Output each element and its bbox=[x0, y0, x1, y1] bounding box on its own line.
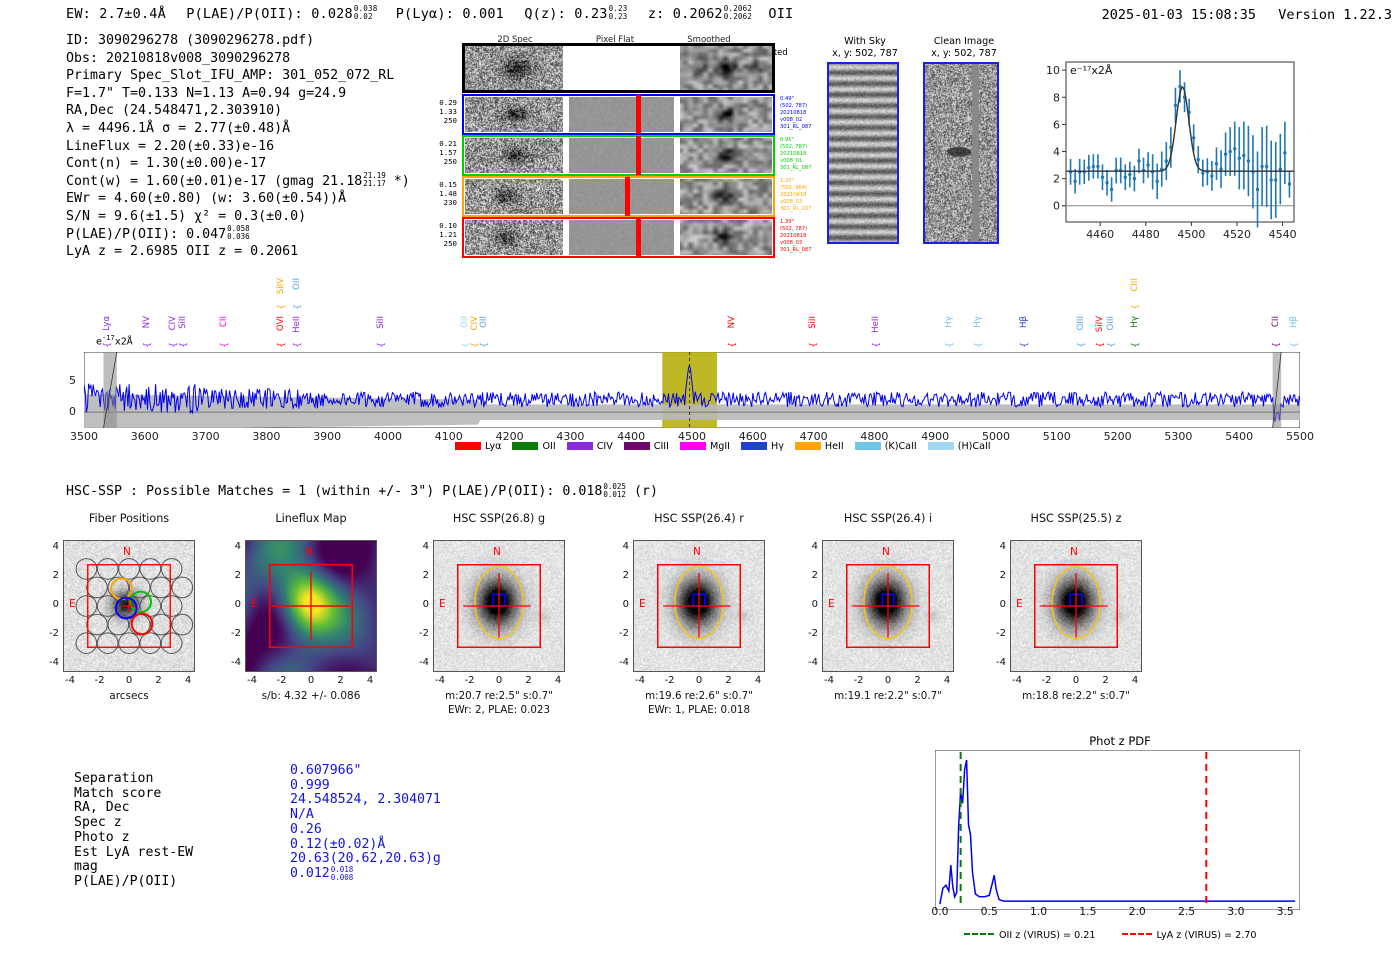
panel-ytick: -2 bbox=[609, 628, 629, 639]
weighted-sum-2dspec bbox=[465, 46, 563, 90]
emission-line-label: OIII bbox=[1107, 316, 1116, 330]
panel-ytick: 4 bbox=[39, 541, 59, 552]
panel-caption-ewr: EWr: 1, PLAE: 0.018 bbox=[601, 704, 797, 716]
panel-xtick: -2 bbox=[656, 675, 684, 686]
emission-line-label: Hβ bbox=[1290, 316, 1299, 328]
info-sn: S/N = 9.6(±1.5) χ² = 0.3(±0.0) bbox=[66, 208, 410, 226]
panel-ytick: 4 bbox=[798, 541, 818, 552]
spectrum-ytick: 5 bbox=[69, 374, 76, 387]
panel-title: HSC SSP(25.5) z bbox=[985, 512, 1167, 525]
wavelength-marker bbox=[636, 95, 641, 134]
compass-east: E bbox=[439, 598, 446, 610]
panel-ytick: 0 bbox=[798, 599, 818, 610]
legend-item: (H)CaII bbox=[928, 441, 991, 452]
photz-xtick: 1.0 bbox=[1019, 905, 1059, 918]
info-plae: P(LAE)/P(OII): 0.0470.0580.036 bbox=[66, 226, 410, 244]
legend-label: (K)CaII bbox=[885, 441, 917, 452]
panel-ytick: 0 bbox=[609, 599, 629, 610]
panel-xtick: 4 bbox=[356, 675, 384, 686]
spectrum-line-markers: Lyα{NV{CIV{SiII{CII{SiIV{OVI{OII{HeII{Si… bbox=[0, 270, 1400, 355]
spectrum-xtick: 3900 bbox=[305, 430, 349, 443]
legend-label: MgII bbox=[710, 441, 730, 452]
legend-label: CIV bbox=[597, 441, 613, 452]
spectrum-xtick: 3700 bbox=[184, 430, 228, 443]
header-qz-label: Q(z): bbox=[524, 6, 566, 22]
hsc-headline: HSC-SSP : Possible Matches = 1 (within +… bbox=[66, 484, 658, 500]
clean-image-cutout[interactable] bbox=[923, 62, 999, 244]
legend-swatch bbox=[512, 442, 538, 450]
info-cont-n: Cont(n) = 1.30(±0.00)e-17 bbox=[66, 155, 410, 173]
svg-text:4520: 4520 bbox=[1223, 228, 1251, 241]
row-2dspec bbox=[465, 220, 563, 255]
emission-line-label: OII bbox=[480, 316, 489, 328]
row-metadata: 1.39"(502, 787)20210818v008_03301_RL_087 bbox=[780, 219, 812, 254]
photz-xaxis: 0.00.51.01.52.02.53.03.5 bbox=[905, 905, 1335, 921]
weighted-sum-smoothed bbox=[680, 46, 772, 90]
emission-line-brace: { bbox=[872, 342, 882, 348]
panel-caption-photometry: m:18.8 re:2.2" s:0.7" bbox=[978, 690, 1174, 702]
panel-xtick: 2 bbox=[1092, 675, 1120, 686]
row-smoothed bbox=[680, 220, 772, 255]
row-smoothed bbox=[680, 138, 772, 173]
svg-text:e⁻¹⁷x2Å: e⁻¹⁷x2Å bbox=[1070, 64, 1113, 77]
panel-xtick: 4 bbox=[174, 675, 202, 686]
row-stats: 0.101.21250 bbox=[413, 221, 457, 249]
legend-swatch bbox=[680, 442, 706, 450]
panel-xtick: -2 bbox=[456, 675, 484, 686]
panel-xtick: 0 bbox=[115, 675, 143, 686]
header-z-label: z: bbox=[648, 6, 665, 22]
legend-item: OII bbox=[512, 441, 555, 452]
panel-ytick: -4 bbox=[798, 657, 818, 668]
legend-item: Lyα bbox=[455, 441, 501, 452]
source-info-block: ID: 3090296278 (3090296278.pdf) Obs: 202… bbox=[66, 32, 410, 261]
row-stats: 0.291.33250 bbox=[413, 98, 457, 126]
panel-xtick: 0 bbox=[485, 675, 513, 686]
line-profile-plot[interactable]: 024681044604480450045204540e⁻¹⁷x2Å bbox=[1030, 52, 1300, 252]
spectrum-legend: LyαOIICIVCIIIMgIIHγHeII(K)CaII(H)CaII bbox=[455, 441, 1002, 452]
legend-label: CIII bbox=[654, 441, 669, 452]
emission-line-brace: { bbox=[1077, 342, 1087, 348]
row-smoothed bbox=[680, 97, 772, 132]
spectrum-xtick: 5300 bbox=[1156, 430, 1200, 443]
compass-east: E bbox=[69, 598, 76, 610]
emission-line-label: CIV bbox=[169, 316, 178, 330]
wavelength-marker bbox=[636, 218, 641, 257]
panel-xtick: -4 bbox=[426, 675, 454, 686]
emission-line-label: HeII bbox=[293, 316, 302, 333]
panel-caption-ewr: EWr: 2, PLAE: 0.023 bbox=[401, 704, 597, 716]
wavelength-marker bbox=[636, 136, 641, 175]
compass-north: N bbox=[693, 546, 701, 558]
panel-title: HSC SSP(26.8) g bbox=[408, 512, 590, 525]
panel-image[interactable] bbox=[1010, 540, 1142, 672]
emission-line-brace: { bbox=[1290, 342, 1300, 348]
panel-xtick: 0 bbox=[1062, 675, 1090, 686]
compass-north: N bbox=[123, 546, 131, 558]
legend-swatch bbox=[624, 442, 650, 450]
emission-line-label: NV bbox=[728, 316, 737, 328]
header-ew: EW: 2.7±0.4Å bbox=[66, 6, 166, 22]
info-cont-w: Cont(w) = 1.60(±0.01)e-17 (gmag 21.1821.… bbox=[66, 173, 410, 191]
info-ewr: EWr = 4.60(±0.80) (w: 3.60(±0.54))Å bbox=[66, 190, 410, 208]
svg-text:4540: 4540 bbox=[1269, 228, 1297, 241]
panel-xtick: 4 bbox=[933, 675, 961, 686]
legend-item: HeII bbox=[795, 441, 844, 452]
match-row-value: 24.548524, 2.304071 bbox=[290, 793, 441, 808]
panel-ytick: 2 bbox=[39, 570, 59, 581]
panel-title: HSC SSP(26.4) i bbox=[797, 512, 979, 525]
emission-line-brace: { bbox=[293, 304, 303, 310]
panel-image[interactable] bbox=[245, 540, 377, 672]
svg-text:4500: 4500 bbox=[1177, 228, 1205, 241]
match-row-value: 0.999 bbox=[290, 779, 330, 794]
emission-line-brace: { bbox=[1131, 342, 1141, 348]
emission-line-label: NV bbox=[143, 316, 152, 328]
spectrum-xtick: 5400 bbox=[1217, 430, 1261, 443]
panel-caption-photometry: m:19.1 re:2.2" s:0.7" bbox=[790, 690, 986, 702]
full-spectrum-plot[interactable] bbox=[84, 352, 1300, 428]
timestamp: 2025-01-03 15:08:35 bbox=[1102, 7, 1256, 23]
match-row-value: 0.26 bbox=[290, 823, 322, 838]
spectrum-xtick: 5200 bbox=[1096, 430, 1140, 443]
panel-ytick: 4 bbox=[609, 541, 629, 552]
spectrum-xtick: 5100 bbox=[1035, 430, 1079, 443]
legend-swatch bbox=[567, 442, 593, 450]
panel-ytick: -2 bbox=[221, 628, 241, 639]
match-row-value: 20.63(20.62,20.63)g bbox=[290, 852, 441, 867]
photz-xtick: 1.5 bbox=[1068, 905, 1108, 918]
legend-label: (H)CaII bbox=[958, 441, 991, 452]
legend-swatch bbox=[855, 442, 881, 450]
header-plae-range: 0.0380.02 bbox=[354, 5, 378, 21]
emission-line-label: Hγ bbox=[945, 316, 954, 328]
panel-xtick: -4 bbox=[238, 675, 266, 686]
match-row-key: mag bbox=[74, 860, 98, 875]
panel-xtick: 2 bbox=[904, 675, 932, 686]
emission-line-brace: { bbox=[169, 342, 179, 348]
panel-xtick: 4 bbox=[544, 675, 572, 686]
emission-line-label: Hγ bbox=[1131, 316, 1140, 328]
header-z-type: OII bbox=[768, 6, 793, 22]
row-stats: 0.151.48230 bbox=[413, 180, 457, 208]
panel-xtick: -2 bbox=[86, 675, 114, 686]
emission-line-brace: { bbox=[377, 342, 387, 348]
emission-line-brace: { bbox=[461, 342, 471, 348]
photz-xtick: 3.0 bbox=[1216, 905, 1256, 918]
legend-item: MgII bbox=[680, 441, 730, 452]
header-plae-label: P(LAE)/P(OII): bbox=[186, 6, 303, 22]
photz-xtick: 3.5 bbox=[1265, 905, 1305, 918]
header-qz-range: 0.230.23 bbox=[609, 5, 628, 21]
photz-xtick: 2.0 bbox=[1117, 905, 1157, 918]
match-row-key: Photo z bbox=[74, 831, 130, 846]
emission-line-label: Hγ bbox=[974, 316, 983, 328]
row-2dspec bbox=[465, 179, 563, 214]
spectrum-xtick: 5500 bbox=[1278, 430, 1322, 443]
emission-line-brace: { bbox=[179, 342, 189, 348]
emission-line-label: SiIV bbox=[1096, 316, 1105, 332]
svg-text:2: 2 bbox=[1053, 173, 1060, 186]
spectrum-xtick: 3800 bbox=[244, 430, 288, 443]
panel-xtick: -4 bbox=[1003, 675, 1031, 686]
legend-label: Hγ bbox=[771, 441, 784, 452]
info-wavelength: λ = 4496.1Å σ = 2.77(±0.48)Å bbox=[66, 120, 410, 138]
clean-image-title: Clean Imagex, y: 502, 787 bbox=[916, 36, 1012, 60]
match-row-key: Separation bbox=[74, 772, 153, 787]
photz-title: Phot z PDF bbox=[935, 734, 1305, 748]
emission-line-brace: { bbox=[1272, 342, 1282, 348]
panel-image[interactable] bbox=[433, 540, 565, 672]
header-summary: EW: 2.7±0.4Å P(LAE)/P(OII): 0.0280.0380.… bbox=[66, 6, 793, 22]
info-primary-spec: Primary Spec_Slot_IFU_AMP: 301_052_072_R… bbox=[66, 67, 410, 85]
row-pixelflat bbox=[569, 179, 674, 214]
panel-xtick: -4 bbox=[56, 675, 84, 686]
emission-line-label: OVI bbox=[277, 316, 286, 331]
legend-item: Hγ bbox=[741, 441, 784, 452]
info-radec: RA,Dec (24.548471,2.303910) bbox=[66, 102, 410, 120]
panel-xtick: -2 bbox=[268, 675, 296, 686]
row-metadata: 0.95"(502, 787)20210818v008_01301_RL_087 bbox=[780, 137, 812, 172]
match-row-value: N/A bbox=[290, 808, 314, 823]
info-id: ID: 3090296278 (3090296278.pdf) bbox=[66, 32, 410, 50]
row-metadata: 0.49"(502, 787)20210818v008_02301_RL_087 bbox=[780, 96, 812, 131]
emission-line-brace: { bbox=[1107, 342, 1117, 348]
header-qz-value: 0.23 bbox=[574, 6, 607, 22]
svg-text:8: 8 bbox=[1053, 91, 1060, 104]
panel-ytick: -4 bbox=[409, 657, 429, 668]
hsc-headline-range: 0.0250.012 bbox=[603, 483, 626, 499]
emission-line-brace: { bbox=[1096, 342, 1106, 348]
compass-north: N bbox=[1070, 546, 1078, 558]
panel-title: HSC SSP(26.4) r bbox=[608, 512, 790, 525]
emission-line-label: CII bbox=[220, 316, 229, 327]
panel-ytick: 0 bbox=[409, 599, 429, 610]
panel-caption-photometry: m:20.7 re:2.5" s:0.7" bbox=[401, 690, 597, 702]
with-sky-cutout[interactable] bbox=[827, 62, 899, 244]
match-row-key: P(LAE)/P(OII) bbox=[74, 875, 177, 890]
svg-text:10: 10 bbox=[1046, 64, 1060, 77]
spectrum-xtick: 3500 bbox=[62, 430, 106, 443]
legend-label: HeII bbox=[825, 441, 844, 452]
photz-legend: OII z (VIRUS) = 0.21LyA z (VIRUS) = 2.70 bbox=[964, 930, 1283, 941]
panel-xlabel: s/b: 4.32 +/- 0.086 bbox=[215, 690, 407, 702]
info-obs: Obs: 20210818v008_3090296278 bbox=[66, 50, 410, 68]
svg-text:4480: 4480 bbox=[1132, 228, 1160, 241]
emission-line-label: Lyα bbox=[103, 316, 112, 331]
panel-ytick: 0 bbox=[221, 599, 241, 610]
panel-xtick: -4 bbox=[626, 675, 654, 686]
spectrum-yaxis: 05 bbox=[0, 352, 84, 428]
emission-line-brace: { bbox=[1131, 304, 1141, 310]
photz-legend-item: OII z (VIRUS) = 0.21 bbox=[964, 930, 1096, 941]
panel-ytick: -4 bbox=[39, 657, 59, 668]
photz-xtick: 0.5 bbox=[969, 905, 1009, 918]
row-smoothed bbox=[680, 179, 772, 214]
svg-text:4460: 4460 bbox=[1086, 228, 1114, 241]
compass-east: E bbox=[828, 598, 835, 610]
emission-line-brace: { bbox=[809, 342, 819, 348]
photz-xtick: 0.0 bbox=[920, 905, 960, 918]
header-plya: P(Lyα): 0.001 bbox=[396, 6, 504, 22]
match-row-key: Spec z bbox=[74, 816, 122, 831]
emission-line-brace: { bbox=[277, 342, 287, 348]
emission-line-label: CIII bbox=[1131, 278, 1140, 292]
row-2dspec bbox=[465, 97, 563, 132]
panel-xtick: 0 bbox=[685, 675, 713, 686]
compass-north: N bbox=[882, 546, 890, 558]
panel-xtick: 2 bbox=[327, 675, 355, 686]
photz-legend-dash bbox=[1122, 933, 1152, 935]
hsc-headline-text: HSC-SSP : Possible Matches = 1 (within +… bbox=[66, 484, 602, 499]
row-2dspec bbox=[465, 138, 563, 173]
info-lineflux: LineFlux = 2.20(±0.33)e-16 bbox=[66, 138, 410, 156]
spectrum-xtick: 4000 bbox=[366, 430, 410, 443]
panel-ytick: -2 bbox=[409, 628, 429, 639]
emission-line-brace: { bbox=[143, 342, 153, 348]
legend-swatch bbox=[741, 442, 767, 450]
emission-line-brace: { bbox=[293, 342, 303, 348]
svg-text:0: 0 bbox=[1053, 200, 1060, 213]
panel-title: Lineflux Map bbox=[220, 512, 402, 525]
panel-ytick: 2 bbox=[609, 570, 629, 581]
compass-north: N bbox=[305, 546, 313, 558]
panel-ytick: -4 bbox=[221, 657, 241, 668]
compass-east: E bbox=[1016, 598, 1023, 610]
panel-ytick: 2 bbox=[798, 570, 818, 581]
panel-xtick: -2 bbox=[1033, 675, 1061, 686]
panel-xtick: 0 bbox=[874, 675, 902, 686]
version-label: Version 1.22.3 bbox=[1278, 7, 1392, 23]
emission-line-label: OIII bbox=[1077, 316, 1086, 330]
row-pixelflat bbox=[569, 97, 674, 132]
panel-xlabel: arcsecs bbox=[33, 690, 225, 702]
emission-line-label: SiII bbox=[809, 316, 818, 329]
panel-caption-photometry: m:19.6 re:2.6" s:0.7" bbox=[601, 690, 797, 702]
compass-east: E bbox=[639, 598, 646, 610]
emission-line-brace: { bbox=[728, 342, 738, 348]
legend-item: CIV bbox=[567, 441, 613, 452]
panel-ytick: 4 bbox=[409, 541, 429, 552]
panel-image[interactable] bbox=[822, 540, 954, 672]
emission-line-brace: { bbox=[1020, 342, 1030, 348]
info-seeing: F=1.7" T=0.133 N=1.13 A=0.94 g=24.9 bbox=[66, 85, 410, 103]
match-row-key: Match score bbox=[74, 787, 161, 802]
spectrum-ytick: 0 bbox=[69, 405, 76, 418]
panel-xtick: 2 bbox=[515, 675, 543, 686]
svg-text:6: 6 bbox=[1053, 118, 1060, 131]
emission-line-label: SiII bbox=[179, 316, 188, 329]
panel-xtick: 4 bbox=[744, 675, 772, 686]
photz-legend-label: OII z (VIRUS) = 0.21 bbox=[999, 930, 1096, 941]
legend-item: (K)CaII bbox=[855, 441, 917, 452]
row-pixelflat bbox=[569, 220, 674, 255]
legend-item: CIII bbox=[624, 441, 669, 452]
emission-line-label: SiIV bbox=[277, 278, 286, 294]
spectrum-units-label: e-17x2Å bbox=[96, 334, 133, 347]
panel-ytick: -2 bbox=[39, 628, 59, 639]
panel-ytick: -2 bbox=[798, 628, 818, 639]
emission-line-label: SiII bbox=[377, 316, 386, 329]
emission-line-brace: { bbox=[480, 342, 490, 348]
compass-east: E bbox=[251, 598, 258, 610]
panel-ytick: 2 bbox=[409, 570, 429, 581]
panel-image[interactable] bbox=[63, 540, 195, 672]
emission-line-label: OII bbox=[293, 278, 302, 290]
panel-ytick: 4 bbox=[221, 541, 241, 552]
legend-label: Lyα bbox=[485, 441, 501, 452]
match-row-value: 0.0120.0180.008 bbox=[290, 867, 353, 883]
panel-xtick: 4 bbox=[1121, 675, 1149, 686]
panel-xtick: 2 bbox=[715, 675, 743, 686]
panel-image[interactable] bbox=[633, 540, 765, 672]
panel-xtick: -4 bbox=[815, 675, 843, 686]
legend-swatch bbox=[928, 442, 954, 450]
panel-ytick: -4 bbox=[609, 657, 629, 668]
panel-xtick: -2 bbox=[845, 675, 873, 686]
panel-ytick: 2 bbox=[986, 570, 1006, 581]
emission-line-brace: { bbox=[974, 342, 984, 348]
emission-line-label: Hβ bbox=[1020, 316, 1029, 328]
spectrum-xtick: 3600 bbox=[123, 430, 167, 443]
legend-swatch bbox=[795, 442, 821, 450]
panel-xtick: 0 bbox=[297, 675, 325, 686]
photz-legend-label: LyA z (VIRUS) = 2.70 bbox=[1157, 930, 1257, 941]
match-table: Separation0.607966"Match score0.999RA, D… bbox=[74, 772, 474, 902]
compass-north: N bbox=[493, 546, 501, 558]
panel-ytick: -4 bbox=[986, 657, 1006, 668]
emission-line-brace: { bbox=[945, 342, 955, 348]
with-sky-title: With Skyx, y: 502, 787 bbox=[820, 36, 910, 60]
info-redshifts: LyA z = 2.6985 OII z = 0.2061 bbox=[66, 243, 410, 261]
emission-line-brace: { bbox=[277, 304, 287, 310]
match-row-value: 0.607966" bbox=[290, 764, 361, 779]
wavelength-marker bbox=[625, 177, 630, 216]
panel-title: Fiber Positions bbox=[38, 512, 220, 525]
match-row-key: Est LyA rest-EW bbox=[74, 846, 193, 861]
panel-ytick: 0 bbox=[39, 599, 59, 610]
panel-ytick: -2 bbox=[986, 628, 1006, 639]
row-metadata: 1.20"(505, 964)20210818v008_03301_RL_107 bbox=[780, 178, 812, 213]
photz-xtick: 2.5 bbox=[1167, 905, 1207, 918]
legend-label: OII bbox=[542, 441, 555, 452]
photz-pdf-plot[interactable] bbox=[935, 750, 1300, 910]
hsc-headline-band: (r) bbox=[634, 484, 658, 499]
cutout-panel-row: Fiber PositionsNE-4-2024420-2-4arcsecsLi… bbox=[0, 512, 1400, 737]
match-row-value: 0.12(±0.02)Å bbox=[290, 838, 385, 853]
row-pixelflat bbox=[569, 138, 674, 173]
header-timestamp-block: 2025-01-03 15:08:35 Version 1.22.3 bbox=[1102, 7, 1392, 23]
panel-ytick: 0 bbox=[986, 599, 1006, 610]
photz-legend-item: LyA z (VIRUS) = 2.70 bbox=[1122, 930, 1257, 941]
panel-ytick: 4 bbox=[986, 541, 1006, 552]
legend-swatch bbox=[455, 442, 481, 450]
header-z-value: 0.2062 bbox=[673, 6, 723, 22]
row-stats: 0.211.57250 bbox=[413, 139, 457, 167]
emission-line-brace: { bbox=[220, 342, 230, 348]
svg-text:4: 4 bbox=[1053, 145, 1060, 158]
emission-line-label: HeII bbox=[872, 316, 881, 333]
emission-line-label: OII bbox=[461, 316, 470, 328]
panel-ytick: 2 bbox=[221, 570, 241, 581]
photz-legend-dash bbox=[964, 933, 994, 935]
match-row-key: RA, Dec bbox=[74, 801, 130, 816]
header-plae-value: 0.028 bbox=[311, 6, 353, 22]
panel-xtick: 2 bbox=[145, 675, 173, 686]
emission-line-label: CII bbox=[1272, 316, 1281, 327]
header-z-range: 0.20620.2062 bbox=[724, 5, 752, 21]
